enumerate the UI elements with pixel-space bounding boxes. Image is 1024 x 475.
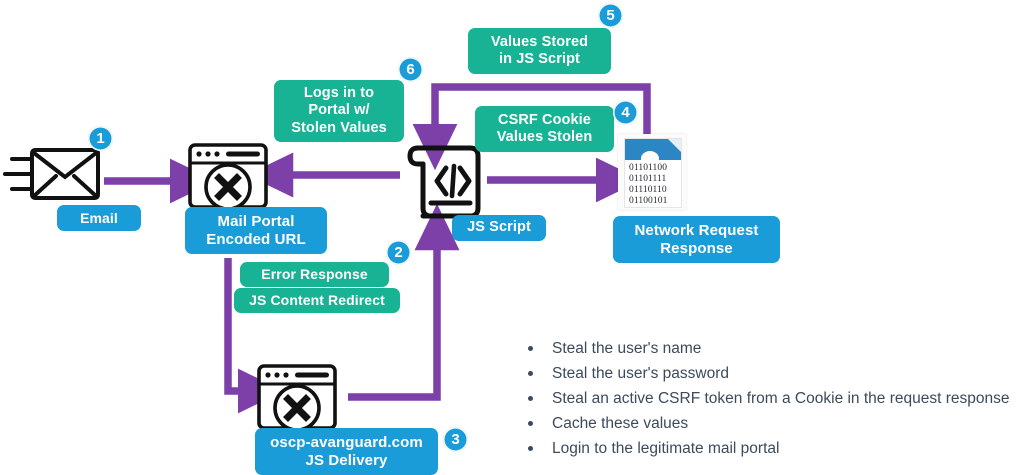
label-js-content-redirect: JS Content Redirect xyxy=(234,288,400,313)
label-email: Email xyxy=(57,205,141,231)
document-page: 01101100 01101111 01110110 01100101 xyxy=(624,138,682,208)
step-badge-5: 5 xyxy=(598,3,623,28)
binary-line: 01101100 xyxy=(629,163,667,174)
label-values-stored: Values Stored in JS Script xyxy=(468,28,611,74)
step-badge-3: 3 xyxy=(443,427,468,452)
label-js-script: JS Script xyxy=(452,215,546,241)
label-attacker-site: oscp-avanguard.com JS Delivery xyxy=(255,428,438,475)
browser-error-icon-portal xyxy=(190,145,266,209)
binary-line: 01101111 xyxy=(629,174,667,185)
document-wave xyxy=(641,151,659,160)
list-item: Steal an active CSRF token from a Cookie… xyxy=(520,386,1020,411)
list-item: Login to the legitimate mail portal xyxy=(520,436,1020,461)
step-badge-1: 1 xyxy=(88,126,113,151)
label-logs-in-portal: Logs in to Portal w/ Stolen Values xyxy=(274,80,404,142)
document-fold-corner xyxy=(668,139,681,152)
step-badge-4: 4 xyxy=(613,100,638,125)
label-error-response: Error Response xyxy=(240,262,389,287)
attack-goals-list: Steal the user's name Steal the user's p… xyxy=(520,336,1020,461)
label-mail-portal: Mail Portal Encoded URL xyxy=(185,207,327,254)
step-badge-2: 2 xyxy=(386,240,411,265)
browser-error-icon-attacker xyxy=(259,366,335,430)
envelope-icon xyxy=(5,150,98,198)
label-csrf-cookie-stolen: CSRF Cookie Values Stolen xyxy=(475,106,614,152)
list-item: Cache these values xyxy=(520,411,1020,436)
list-item: Steal the user's name xyxy=(520,336,1020,361)
binary-line: 01100101 xyxy=(629,196,667,207)
binary-text: 01101100 01101111 01110110 01100101 xyxy=(629,163,667,207)
list-item: Steal the user's password xyxy=(520,361,1020,386)
step-badge-6: 6 xyxy=(398,57,423,82)
label-network-request: Network Request Response xyxy=(613,216,780,263)
binary-document-icon: 01101100 01101111 01110110 01100101 xyxy=(618,134,686,210)
diagram-canvas: 01101100 01101111 01110110 01100101 Emai… xyxy=(0,0,1024,475)
binary-line: 01110110 xyxy=(629,185,667,196)
code-scroll-icon xyxy=(410,148,478,216)
